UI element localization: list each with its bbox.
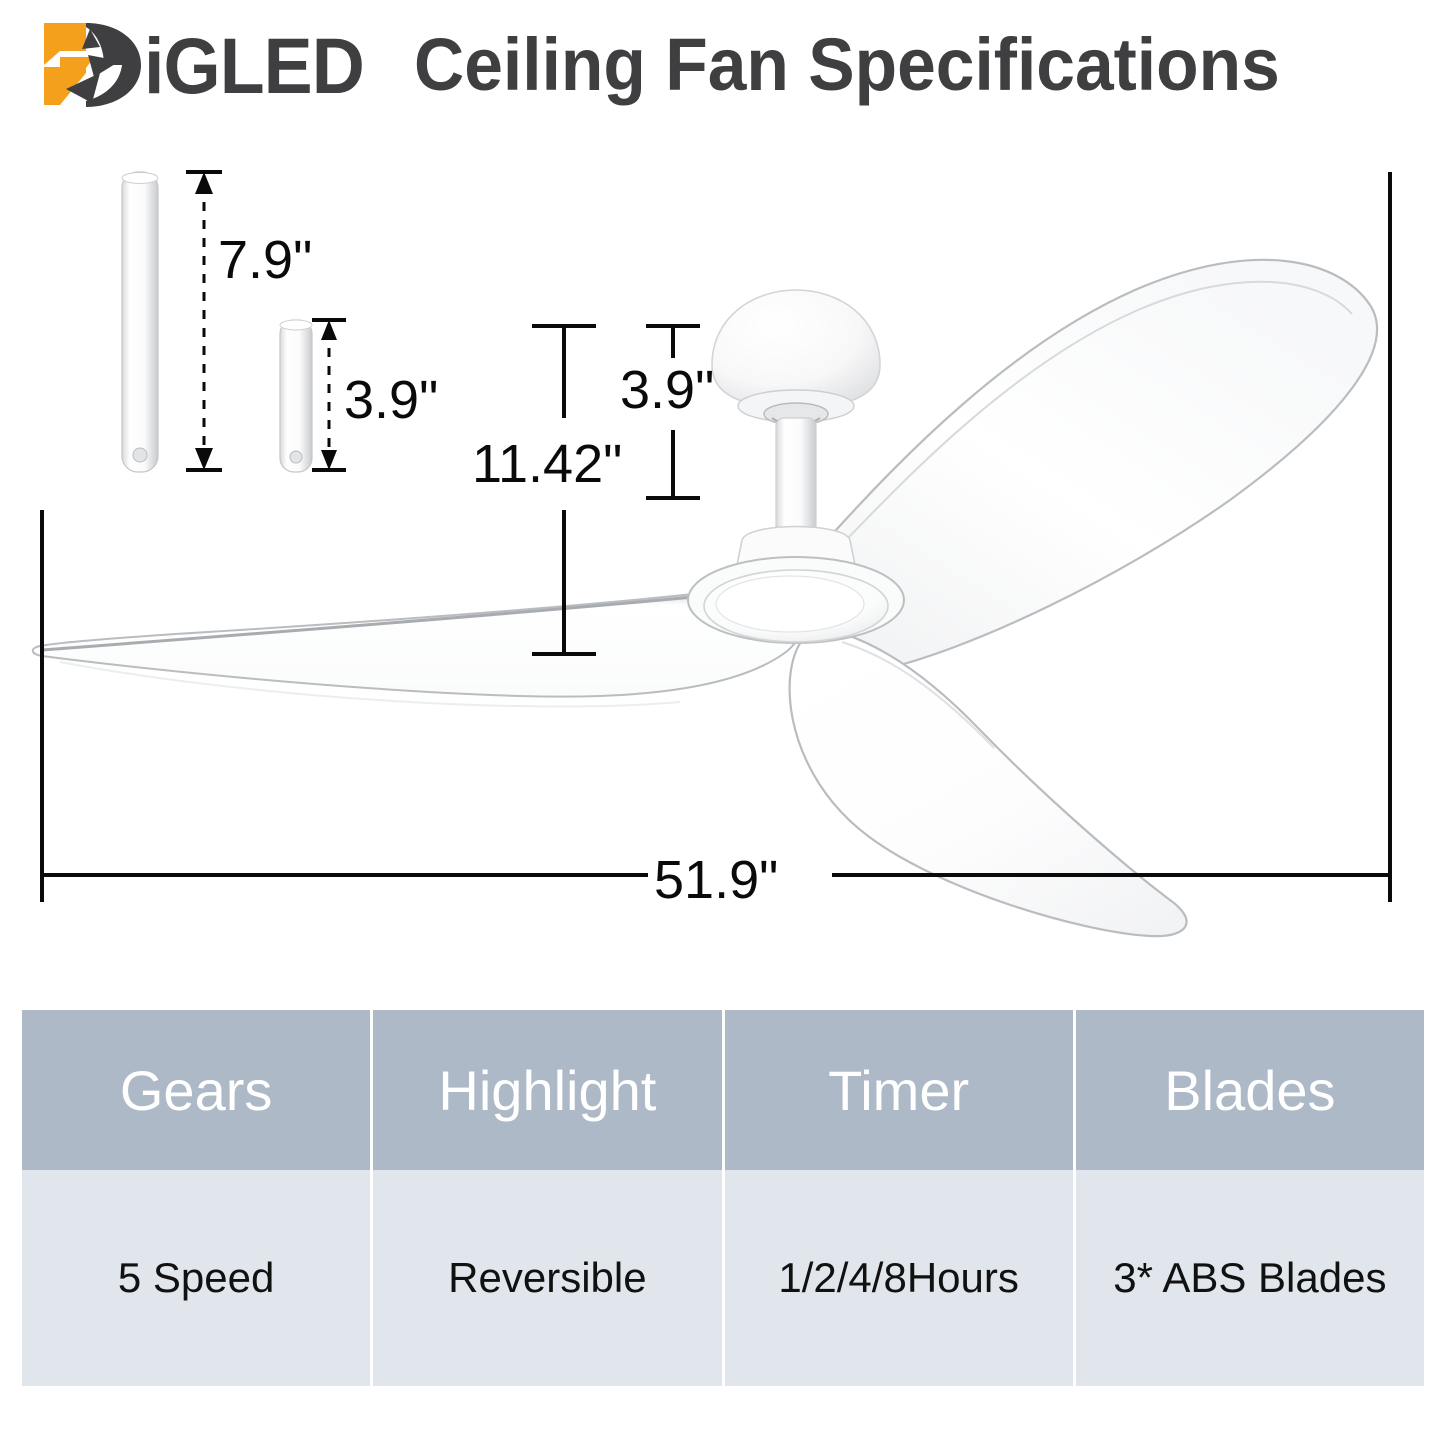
- brand-logo: iGLED: [38, 17, 380, 113]
- fan-dimension-diagram: 7.9" 3.9": [0, 130, 1445, 990]
- overall-width-label: 51.9": [654, 850, 778, 910]
- downrod-long-label: 7.9": [218, 230, 312, 290]
- table-row: 5 Speed Reversible 1/2/4/8Hours 3* ABS B…: [22, 1170, 1424, 1386]
- aperture-d-logo-icon: [38, 17, 146, 113]
- dimension-downrod-long: [186, 172, 222, 470]
- page-header: iGLED Ceiling Fan Specifications: [0, 0, 1445, 130]
- page-title: Ceiling Fan Specifications: [414, 28, 1280, 102]
- fan-canopy: [712, 290, 880, 425]
- downrod-short-label: 3.9": [344, 370, 438, 430]
- table-header-timer: Timer: [725, 1010, 1076, 1170]
- table-header-blades: Blades: [1076, 1010, 1424, 1170]
- table-header-row: Gears Highlight Timer Blades: [22, 1010, 1424, 1170]
- downrod-long-illustration: [122, 172, 158, 472]
- canopy-height-label: 3.9": [620, 360, 714, 420]
- total-height-label: 11.42": [472, 434, 622, 494]
- table-value-timer: 1/2/4/8Hours: [725, 1170, 1076, 1386]
- table-header-gears: Gears: [22, 1010, 373, 1170]
- downrod-short-illustration: [280, 320, 312, 472]
- dimension-downrod-short: [312, 320, 346, 470]
- table-value-highlight: Reversible: [373, 1170, 724, 1386]
- table-header-highlight: Highlight: [373, 1010, 724, 1170]
- fan-downrod: [776, 418, 816, 540]
- fan-blade-lower-right: [790, 629, 1187, 936]
- specifications-table: Gears Highlight Timer Blades 5 Speed Rev…: [22, 1010, 1424, 1386]
- fan-light-kit: [688, 557, 904, 643]
- brand-wordmark: iGLED: [144, 26, 364, 105]
- table-value-blades: 3* ABS Blades: [1076, 1170, 1424, 1386]
- table-value-gears: 5 Speed: [22, 1170, 373, 1386]
